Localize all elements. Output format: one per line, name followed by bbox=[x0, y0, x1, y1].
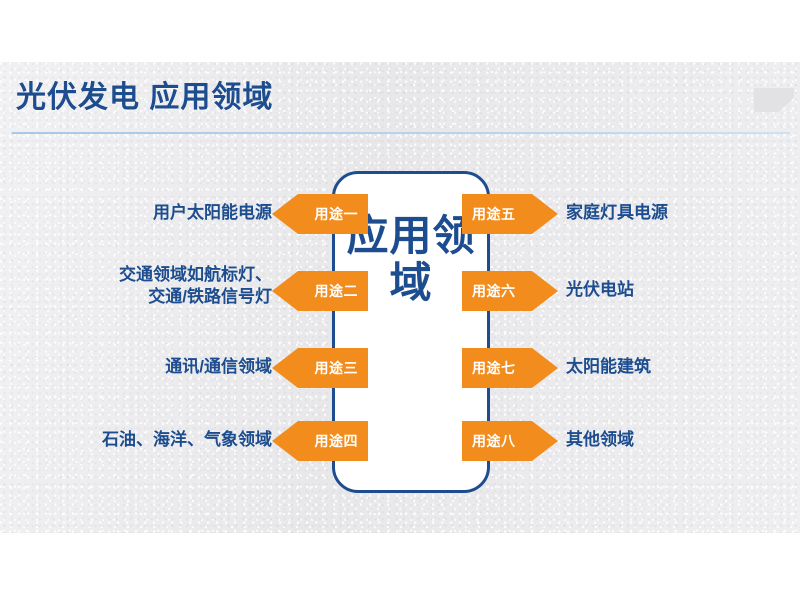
left-application-label: 通讯/通信领域 bbox=[32, 356, 272, 378]
right-arrow-callout[interactable]: 用途七 bbox=[462, 348, 558, 388]
application-row: 用户太阳能电源 用途一 用途五 家庭灯具电源 bbox=[0, 194, 800, 234]
application-row: 交通领域如航标灯、 交通/铁路信号灯 用途二 用途六 光伏电站 bbox=[0, 271, 800, 311]
page-title: 光伏发电 应用领域 bbox=[16, 83, 273, 113]
right-arrow-label: 用途七 bbox=[472, 358, 516, 378]
right-arrow-callout[interactable]: 用途五 bbox=[462, 194, 558, 234]
left-application-label: 用户太阳能电源 bbox=[32, 202, 272, 224]
left-arrow-label: 用途一 bbox=[315, 204, 359, 224]
right-arrow-label: 用途八 bbox=[472, 431, 516, 451]
right-application-label: 光伏电站 bbox=[566, 279, 796, 301]
left-arrow-label: 用途三 bbox=[315, 358, 359, 378]
left-arrow-callout[interactable]: 用途一 bbox=[272, 194, 368, 234]
left-arrow-label: 用途四 bbox=[315, 431, 359, 451]
right-arrow-callout[interactable]: 用途八 bbox=[462, 421, 558, 461]
right-arrow-callout[interactable]: 用途六 bbox=[462, 271, 558, 311]
left-arrow-callout[interactable]: 用途四 bbox=[272, 421, 368, 461]
right-application-label: 太阳能建筑 bbox=[566, 356, 796, 378]
right-application-label: 其他领域 bbox=[566, 429, 796, 451]
application-row: 石油、海洋、气象领域 用途四 用途八 其他领域 bbox=[0, 421, 800, 461]
right-arrow-label: 用途六 bbox=[472, 281, 516, 301]
right-application-label: 家庭灯具电源 bbox=[566, 202, 796, 224]
left-arrow-callout[interactable]: 用途二 bbox=[272, 271, 368, 311]
slide-canvas: 光伏发电 应用领域 应用领域 用户太阳能电源 用途一 用途五 家庭灯具电源 交通… bbox=[0, 0, 800, 600]
left-application-label: 石油、海洋、气象领域 bbox=[32, 429, 272, 451]
left-arrow-label: 用途二 bbox=[315, 281, 359, 301]
left-arrow-callout[interactable]: 用途三 bbox=[272, 348, 368, 388]
right-arrow-label: 用途五 bbox=[472, 204, 516, 224]
title-divider-rule bbox=[12, 132, 790, 134]
application-row: 通讯/通信领域 用途三 用途七 太阳能建筑 bbox=[0, 348, 800, 388]
left-application-label: 交通领域如航标灯、 交通/铁路信号灯 bbox=[32, 264, 272, 308]
